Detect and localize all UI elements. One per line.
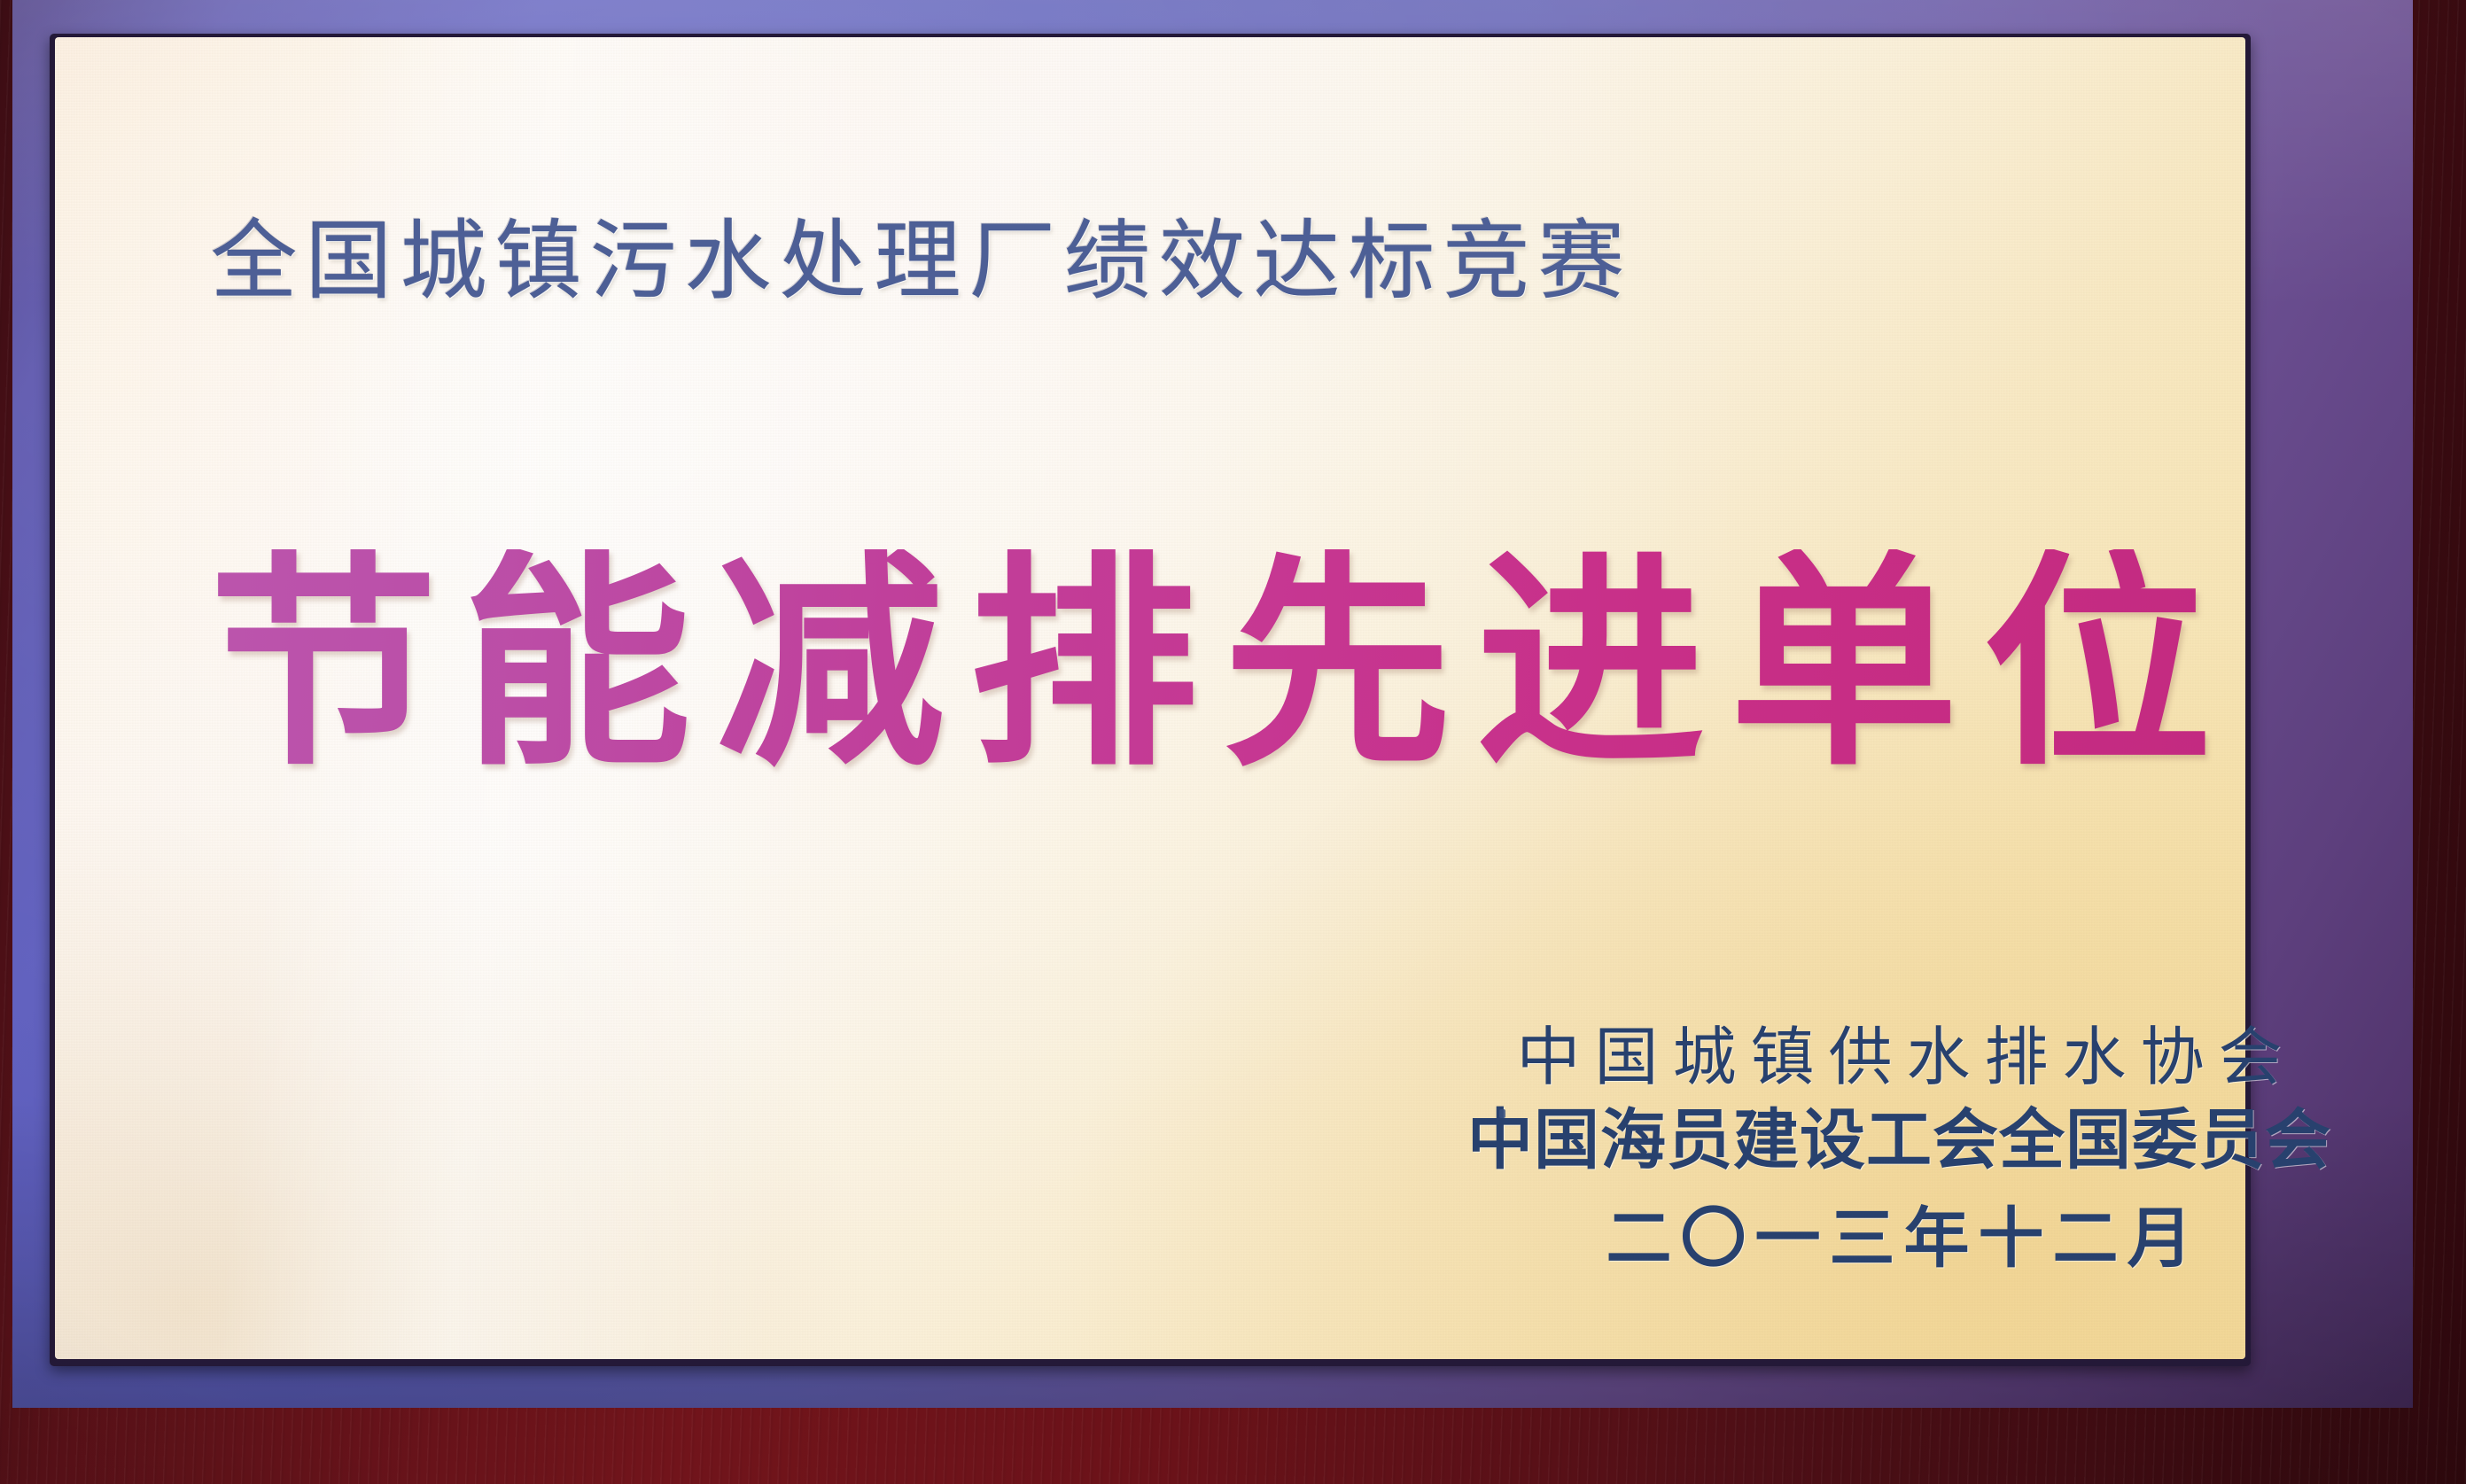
issuer-organization-primary: 中国城镇供水排水协会 bbox=[1467, 1017, 2331, 1098]
issue-date: 二〇一三年十二月 bbox=[1467, 1199, 2331, 1278]
comma-mark bbox=[1499, 1109, 1505, 1118]
award-title: 节能减排先进单位 bbox=[177, 549, 2268, 778]
issuer-signature-block: 中国城镇供水排水协会 中国海员建设工会全国委员会 二〇一三年十二月 bbox=[1467, 1017, 2331, 1278]
award-plaque-photo: 全国城镇污水处理厂绩效达标竞赛 节能减排先进单位 中国城镇供水排水协会 中国海员… bbox=[0, 0, 2466, 1484]
issuer-organization-secondary: 中国海员建设工会全国委员会 bbox=[1467, 1098, 2331, 1183]
competition-title: 全国城镇污水处理厂绩效达标竞赛 bbox=[168, 218, 1675, 305]
